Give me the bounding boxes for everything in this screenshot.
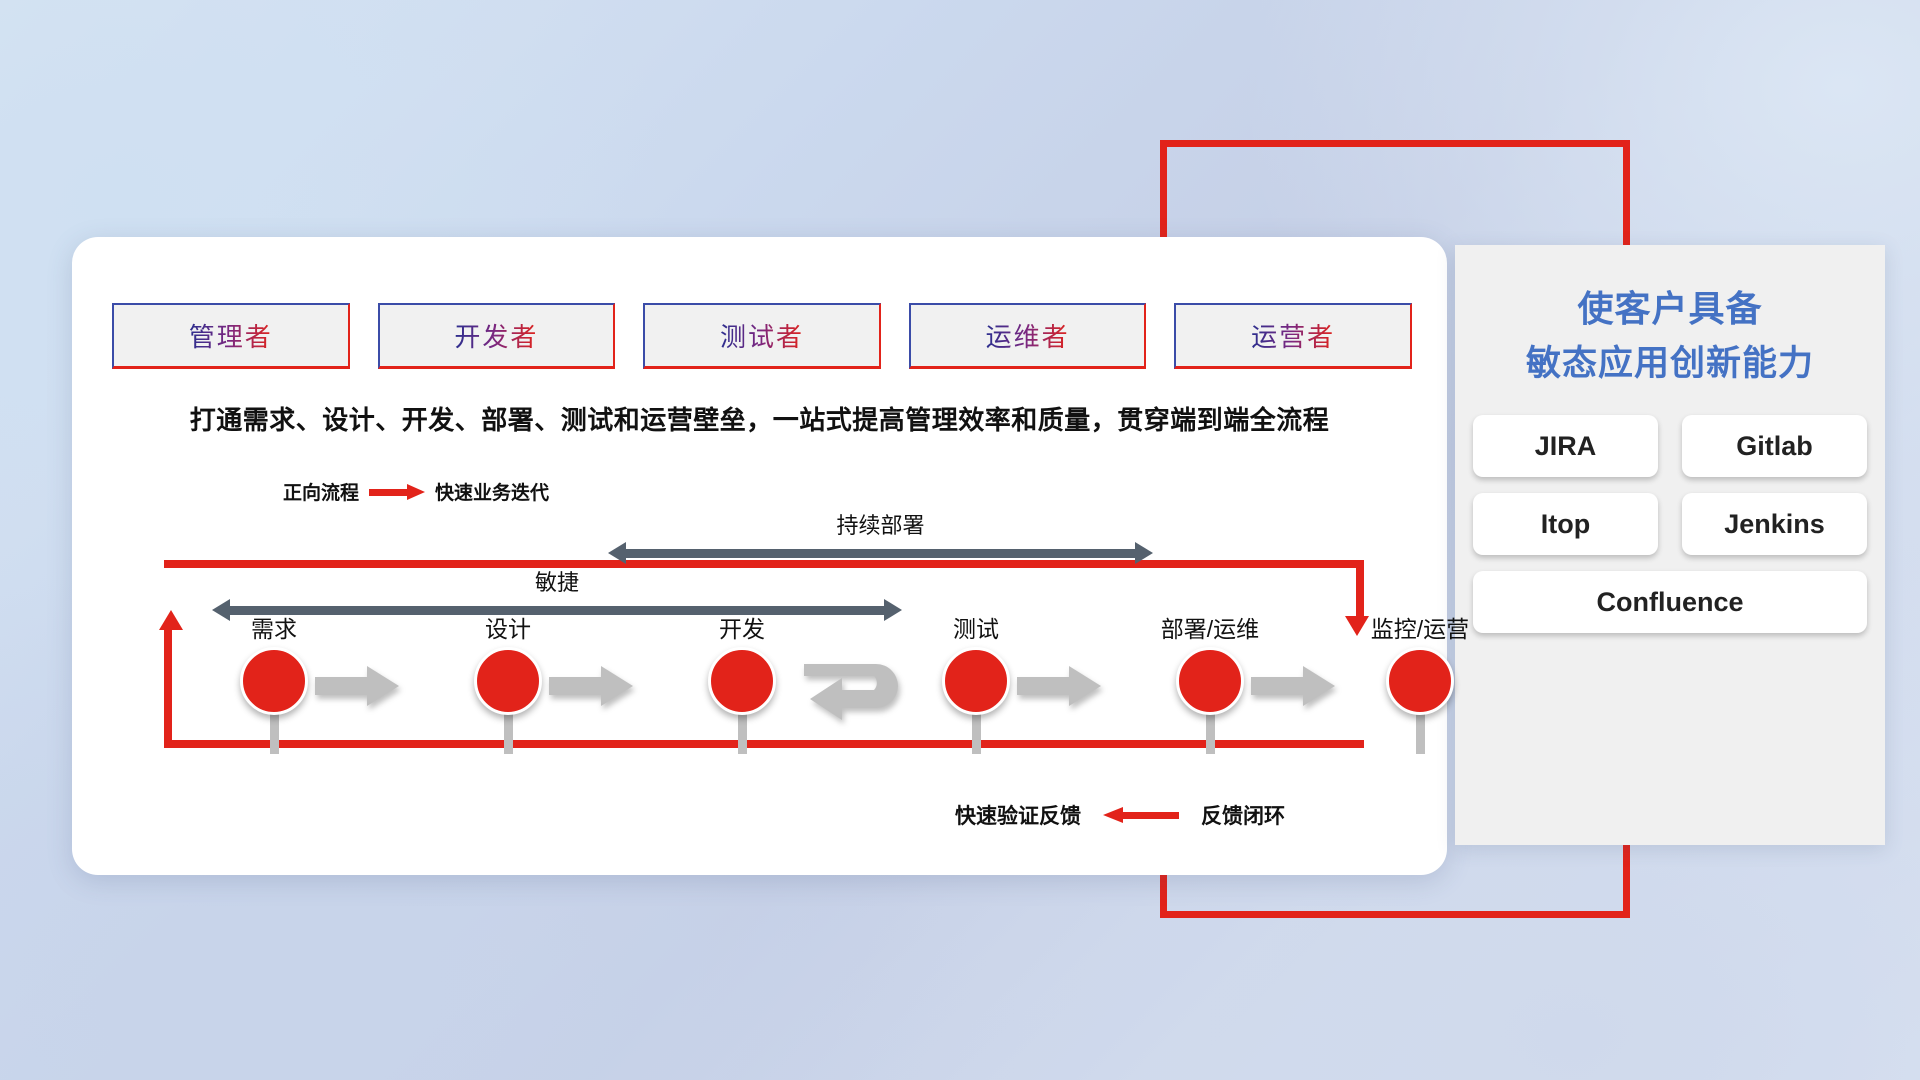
stage-stem (270, 710, 279, 754)
panel-title-line1: 使客户具备 (1473, 281, 1867, 337)
role-box-ops[interactable]: 运维者 (909, 303, 1147, 369)
stage-label: 开发 (667, 610, 817, 644)
arrow-uturn-grey-icon (802, 658, 912, 720)
feedback-annotation: 快速验证反馈 反馈闭环 (955, 800, 1285, 830)
tool-chip-gitlab[interactable]: Gitlab (1682, 415, 1867, 477)
arrow-right-grey-icon (549, 666, 633, 706)
stage-label: 测试 (901, 610, 1051, 644)
panel-title-line2: 敏态应用创新能力 (1473, 337, 1867, 391)
role-box-row: 管理者 开发者 测试者 运维者 运营者 (112, 303, 1412, 369)
stage-label: 需求 (199, 610, 349, 644)
slide-canvas: 管理者 开发者 测试者 运维者 运营者 打通需求、设计、开发、部署、测试和运营壁… (0, 0, 1920, 1080)
headline-text: 打通需求、设计、开发、部署、测试和运营壁垒，一站式提高管理效率和质量，贯穿端到端… (72, 400, 1447, 437)
tool-chip-confluence[interactable]: Confluence (1473, 571, 1867, 633)
role-label: 运维者 (986, 317, 1070, 354)
continuous-deploy-span: 持续部署 (608, 508, 1153, 564)
role-box-developer[interactable]: 开发者 (378, 303, 616, 369)
role-label: 运营者 (1251, 317, 1335, 354)
stage-stem (1206, 710, 1215, 754)
arrow-right-grey-icon (315, 666, 399, 706)
continuous-deploy-label: 持续部署 (608, 508, 1153, 540)
tool-chip-jenkins[interactable]: Jenkins (1682, 493, 1867, 555)
stage-stem (738, 710, 747, 754)
stage-stem (972, 710, 981, 754)
stage-label: 监控/运营 (1345, 610, 1495, 644)
feedback-result-label: 快速验证反馈 (955, 800, 1081, 830)
arrow-left-red-icon (1103, 807, 1179, 823)
stage-dot-icon (474, 647, 542, 715)
tool-chip-jira[interactable]: JIRA (1473, 415, 1658, 477)
stage-dot-icon (1386, 647, 1454, 715)
agile-label: 敏捷 (212, 565, 902, 597)
panel-title: 使客户具备 敏态应用创新能力 (1455, 245, 1885, 401)
role-box-tester[interactable]: 测试者 (643, 303, 881, 369)
capability-panel: 使客户具备 敏态应用创新能力 JIRA Gitlab Itop Jenkins … (1455, 245, 1885, 845)
stage-dot-icon (708, 647, 776, 715)
role-box-operations[interactable]: 运营者 (1174, 303, 1412, 369)
stage-stem (1416, 710, 1425, 754)
feedback-loop-label: 反馈闭环 (1201, 800, 1285, 830)
stage-dot-icon (1176, 647, 1244, 715)
arrow-right-red-icon (369, 484, 425, 500)
forward-flow-result: 快速业务迭代 (435, 478, 549, 505)
stage-dot-icon (942, 647, 1010, 715)
pipeline-stage-development[interactable]: 开发 (667, 610, 817, 715)
stage-dot-icon (240, 647, 308, 715)
role-label: 测试者 (720, 317, 804, 354)
tool-chip-grid: JIRA Gitlab Itop Jenkins Confluence (1455, 401, 1885, 633)
role-label: 开发者 (454, 317, 538, 354)
pipeline-stage-monitor-operations[interactable]: 监控/运营 (1345, 610, 1495, 715)
stage-label: 部署/运维 (1135, 610, 1285, 644)
arrow-right-grey-icon (1251, 666, 1335, 706)
forward-flow-label: 正向流程 (283, 478, 359, 505)
role-box-manager[interactable]: 管理者 (112, 303, 350, 369)
pipeline-row: 需求 设计 开发 测试 部署/运维 监控/运营 (112, 610, 1412, 730)
double-arrow-icon (608, 542, 1153, 564)
role-label: 管理者 (189, 317, 273, 354)
stage-stem (504, 710, 513, 754)
tool-chip-itop[interactable]: Itop (1473, 493, 1658, 555)
arrow-right-grey-icon (1017, 666, 1101, 706)
stage-label: 设计 (433, 610, 583, 644)
forward-flow-annotation: 正向流程 快速业务迭代 (283, 478, 549, 505)
